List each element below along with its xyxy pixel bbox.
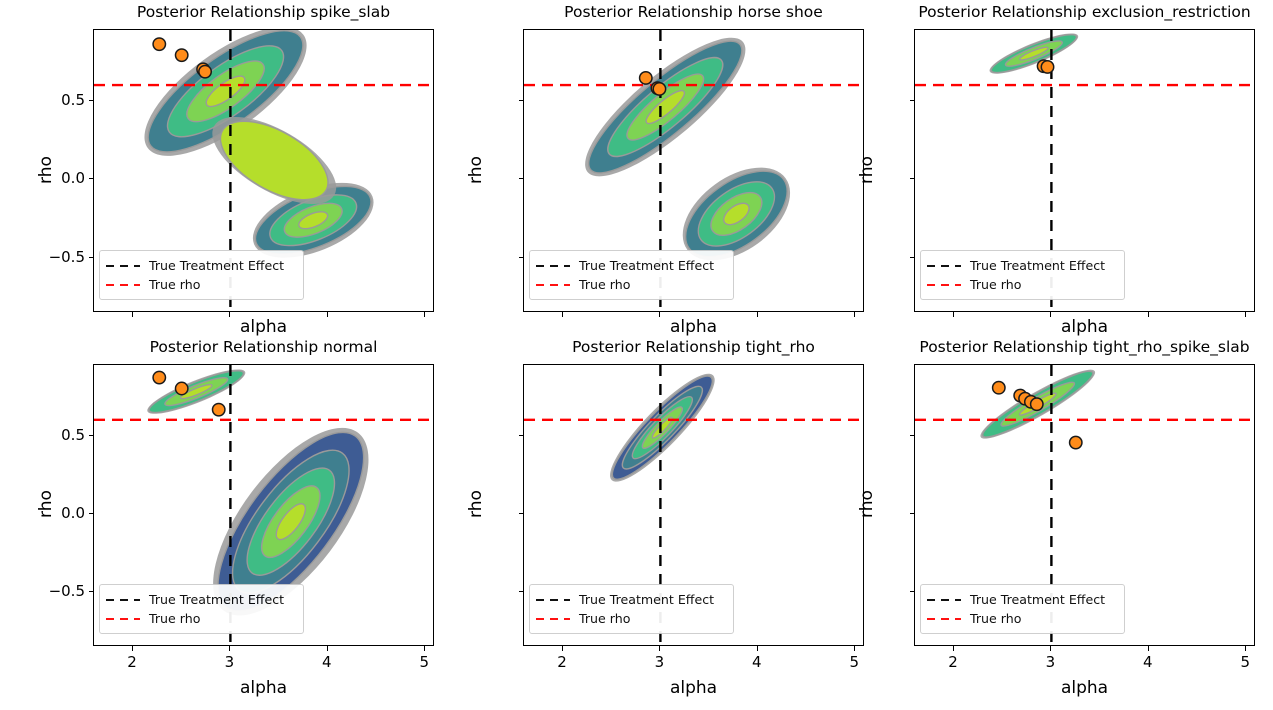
xticklabel-normal-1: 3 xyxy=(204,653,254,671)
scatter-point xyxy=(199,65,211,77)
ytick-spike_slab-2 xyxy=(89,257,94,258)
xtick-horse_shoe-1 xyxy=(659,312,660,317)
scatter-point xyxy=(1041,61,1053,73)
yticklabel-normal-0: 0.5 xyxy=(31,426,85,444)
xtick-exclusion_restriction-2 xyxy=(1148,312,1149,317)
xtick-horse_shoe-0 xyxy=(562,312,563,317)
legend-normal: True Treatment EffectTrue rho xyxy=(99,584,304,634)
legend-label-0: True Treatment Effect xyxy=(970,258,1105,273)
scatter-point xyxy=(1031,398,1043,410)
xtick-normal-0 xyxy=(132,646,133,651)
xticklabel-normal-3: 5 xyxy=(399,653,449,671)
yticklabel-spike_slab-0: 0.5 xyxy=(31,91,85,109)
panel-title-spike_slab: Posterior Relationship spike_slab xyxy=(33,5,494,21)
legend-label-1: True rho xyxy=(579,277,630,292)
dash-black-icon xyxy=(106,594,140,606)
ytick-spike_slab-0 xyxy=(89,100,94,101)
legend-row-0: True Treatment Effect xyxy=(106,256,296,275)
ytick-spike_slab-1 xyxy=(89,178,94,179)
legend-label-0: True Treatment Effect xyxy=(149,592,284,607)
xtick-tight_rho_spike_slab-3 xyxy=(1245,646,1246,651)
xtick-horse_shoe-3 xyxy=(854,312,855,317)
xtick-exclusion_restriction-0 xyxy=(953,312,954,317)
dash-red-icon xyxy=(536,279,570,291)
legend-label-1: True rho xyxy=(970,611,1021,626)
legend-label-1: True rho xyxy=(149,277,200,292)
xticklabel-tight_rho-3: 5 xyxy=(829,653,879,671)
ytick-normal-1 xyxy=(89,513,94,514)
ytick-tight_rho_spike_slab-2 xyxy=(910,591,915,592)
legend-label-0: True Treatment Effect xyxy=(970,592,1105,607)
yticklabel-normal-2: −0.5 xyxy=(31,582,85,600)
ytick-normal-2 xyxy=(89,591,94,592)
xticklabel-tight_rho_spike_slab-2: 4 xyxy=(1123,653,1173,671)
xtick-tight_rho-0 xyxy=(562,646,563,651)
panel-title-normal: Posterior Relationship normal xyxy=(33,340,494,356)
contour-group xyxy=(599,365,727,493)
ytick-exclusion_restriction-0 xyxy=(910,100,915,101)
xtick-spike_slab-1 xyxy=(229,312,230,317)
ylabel-horse_shoe: rho xyxy=(466,125,486,215)
legend-row-0: True Treatment Effect xyxy=(536,590,726,609)
panel-title-exclusion_restriction: Posterior Relationship exclusion_restric… xyxy=(854,5,1273,21)
legend-row-1: True rho xyxy=(536,275,726,294)
xtick-exclusion_restriction-1 xyxy=(1050,312,1051,317)
scatter-group xyxy=(1037,60,1053,73)
xticklabel-normal-2: 4 xyxy=(302,653,352,671)
panel-title-tight_rho_spike_slab: Posterior Relationship tight_rho_spike_s… xyxy=(854,340,1273,356)
ytick-exclusion_restriction-1 xyxy=(910,178,915,179)
legend-row-1: True rho xyxy=(927,609,1117,628)
legend-row-0: True Treatment Effect xyxy=(927,590,1117,609)
legend-tight_rho_spike_slab: True Treatment EffectTrue rho xyxy=(920,584,1125,634)
legend-row-1: True rho xyxy=(106,609,296,628)
xtick-normal-1 xyxy=(229,646,230,651)
legend-horse_shoe: True Treatment EffectTrue rho xyxy=(529,250,734,300)
legend-label-1: True rho xyxy=(149,611,200,626)
dash-red-icon xyxy=(536,613,570,625)
dash-red-icon xyxy=(927,279,961,291)
xtick-tight_rho_spike_slab-1 xyxy=(1050,646,1051,651)
scatter-point xyxy=(153,38,165,50)
contour-group xyxy=(568,30,807,279)
xtick-tight_rho_spike_slab-2 xyxy=(1148,646,1149,651)
xlabel-normal: alpha xyxy=(93,678,434,698)
xtick-spike_slab-2 xyxy=(327,312,328,317)
yticklabel-spike_slab-2: −0.5 xyxy=(31,248,85,266)
xlabel-tight_rho_spike_slab: alpha xyxy=(914,678,1255,698)
dash-red-icon xyxy=(106,279,140,291)
xlabel-exclusion_restriction: alpha xyxy=(914,317,1255,337)
legend-spike_slab: True Treatment EffectTrue rho xyxy=(99,250,304,300)
legend-label-0: True Treatment Effect xyxy=(579,258,714,273)
dash-black-icon xyxy=(536,594,570,606)
ytick-exclusion_restriction-2 xyxy=(910,257,915,258)
xtick-normal-3 xyxy=(424,646,425,651)
xtick-horse_shoe-2 xyxy=(757,312,758,317)
ytick-tight_rho_spike_slab-0 xyxy=(910,435,915,436)
scatter-point xyxy=(993,382,1005,394)
legend-exclusion_restriction: True Treatment EffectTrue rho xyxy=(920,250,1125,300)
legend-row-0: True Treatment Effect xyxy=(927,256,1117,275)
xticklabel-tight_rho_spike_slab-3: 5 xyxy=(1220,653,1270,671)
xtick-tight_rho-2 xyxy=(757,646,758,651)
xlabel-spike_slab: alpha xyxy=(93,317,434,337)
ytick-tight_rho_spike_slab-1 xyxy=(910,513,915,514)
xlabel-tight_rho: alpha xyxy=(523,678,864,698)
dash-black-icon xyxy=(927,260,961,272)
legend-row-0: True Treatment Effect xyxy=(536,256,726,275)
xtick-tight_rho-3 xyxy=(854,646,855,651)
legend-label-0: True Treatment Effect xyxy=(149,258,284,273)
figure-canvas: Posterior Relationship spike_slab0.50.0−… xyxy=(0,0,1273,710)
xticklabel-tight_rho_spike_slab-1: 3 xyxy=(1025,653,1075,671)
legend-row-1: True rho xyxy=(927,275,1117,294)
legend-label-0: True Treatment Effect xyxy=(579,592,714,607)
dash-black-icon xyxy=(536,260,570,272)
dash-black-icon xyxy=(927,594,961,606)
xticklabel-tight_rho-0: 2 xyxy=(537,653,587,671)
xticklabel-tight_rho-2: 4 xyxy=(732,653,782,671)
xtick-tight_rho-1 xyxy=(659,646,660,651)
xlabel-horse_shoe: alpha xyxy=(523,317,864,337)
xtick-spike_slab-0 xyxy=(132,312,133,317)
scatter-point xyxy=(1070,436,1082,448)
ytick-normal-0 xyxy=(89,435,94,436)
ylabel-tight_rho: rho xyxy=(466,459,486,549)
scatter-point xyxy=(653,83,665,95)
scatter-point xyxy=(153,371,165,383)
ylabel-normal: rho xyxy=(36,459,56,549)
ytick-tight_rho-1 xyxy=(519,513,524,514)
xtick-spike_slab-3 xyxy=(424,312,425,317)
legend-tight_rho: True Treatment EffectTrue rho xyxy=(529,584,734,634)
legend-row-1: True rho xyxy=(536,609,726,628)
ylabel-spike_slab: rho xyxy=(36,125,56,215)
ytick-horse_shoe-2 xyxy=(519,257,524,258)
xtick-exclusion_restriction-3 xyxy=(1245,312,1246,317)
contour-group xyxy=(125,30,384,273)
xticklabel-normal-0: 2 xyxy=(107,653,157,671)
scatter-point xyxy=(175,49,187,61)
dash-red-icon xyxy=(106,613,140,625)
legend-row-1: True rho xyxy=(106,275,296,294)
legend-row-0: True Treatment Effect xyxy=(106,590,296,609)
scatter-point xyxy=(175,382,187,394)
contour-group xyxy=(986,30,1082,81)
ytick-tight_rho-2 xyxy=(519,591,524,592)
ytick-horse_shoe-1 xyxy=(519,178,524,179)
ytick-horse_shoe-0 xyxy=(519,100,524,101)
scatter-group xyxy=(153,38,211,78)
scatter-point xyxy=(213,403,225,415)
xticklabel-tight_rho_spike_slab-0: 2 xyxy=(928,653,978,671)
dash-black-icon xyxy=(106,260,140,272)
xticklabel-tight_rho-1: 3 xyxy=(634,653,684,671)
xtick-normal-2 xyxy=(327,646,328,651)
ylabel-exclusion_restriction: rho xyxy=(857,125,877,215)
legend-label-1: True rho xyxy=(970,277,1021,292)
dash-red-icon xyxy=(927,613,961,625)
legend-label-1: True rho xyxy=(579,611,630,626)
xtick-tight_rho_spike_slab-0 xyxy=(953,646,954,651)
ytick-tight_rho-0 xyxy=(519,435,524,436)
scatter-point xyxy=(640,72,652,84)
ylabel-tight_rho_spike_slab: rho xyxy=(857,459,877,549)
